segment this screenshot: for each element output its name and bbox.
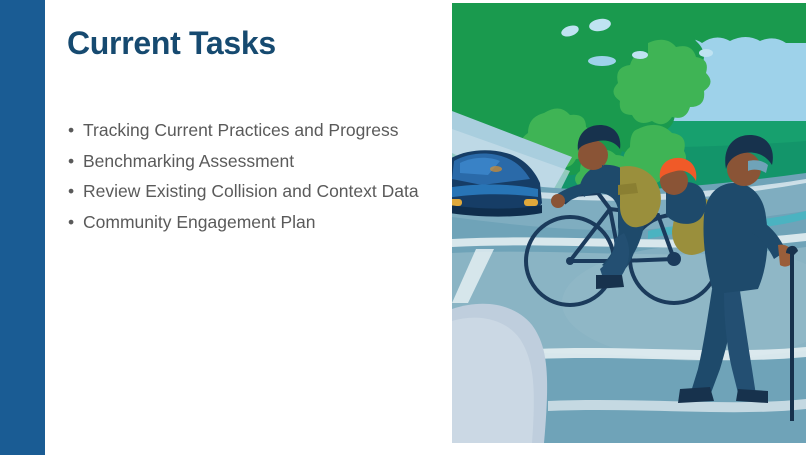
left-accent-bar [0, 0, 45, 455]
bullet-marker-icon: • [68, 151, 74, 173]
car-headlight-left [452, 199, 462, 206]
cyclist-shoe [596, 275, 624, 289]
list-item-label: Community Engagement Plan [83, 212, 315, 232]
slide-canvas: Current Tasks • Tracking Current Practic… [0, 0, 809, 455]
pedestrian-shoe-front [736, 389, 768, 403]
car-window-reflection [490, 166, 502, 172]
bike-rear-hub [667, 252, 681, 266]
canopy-sky-hole-e [699, 49, 713, 57]
walking-cane [790, 253, 794, 421]
list-item: • Review Existing Collision and Context … [65, 181, 440, 203]
list-item-label: Review Existing Collision and Context Da… [83, 181, 419, 201]
list-item-label: Benchmarking Assessment [83, 151, 294, 171]
list-item: • Benchmarking Assessment [65, 151, 440, 173]
canopy-sky-hole-c [588, 56, 616, 66]
pedestrian-coat [703, 183, 767, 295]
backpack-strap [618, 183, 638, 195]
bike-front-hub [566, 257, 574, 265]
pedestrian-shoe-back [678, 387, 714, 403]
text-column: Current Tasks • Tracking Current Practic… [45, 0, 452, 455]
street-scene-illustration [452, 3, 806, 443]
car-headlight-right [524, 199, 538, 206]
list-item: • Community Engagement Plan [65, 212, 440, 234]
list-item: • Tracking Current Practices and Progres… [65, 120, 440, 142]
bullet-marker-icon: • [68, 212, 74, 234]
list-item-label: Tracking Current Practices and Progress [83, 120, 398, 140]
page-title: Current Tasks [67, 26, 276, 61]
bullet-marker-icon: • [68, 120, 74, 142]
cyclist-hand [551, 194, 565, 208]
task-bullet-list: • Tracking Current Practices and Progres… [65, 120, 440, 242]
bullet-marker-icon: • [68, 181, 74, 203]
canopy-sky-hole-d [632, 51, 648, 59]
